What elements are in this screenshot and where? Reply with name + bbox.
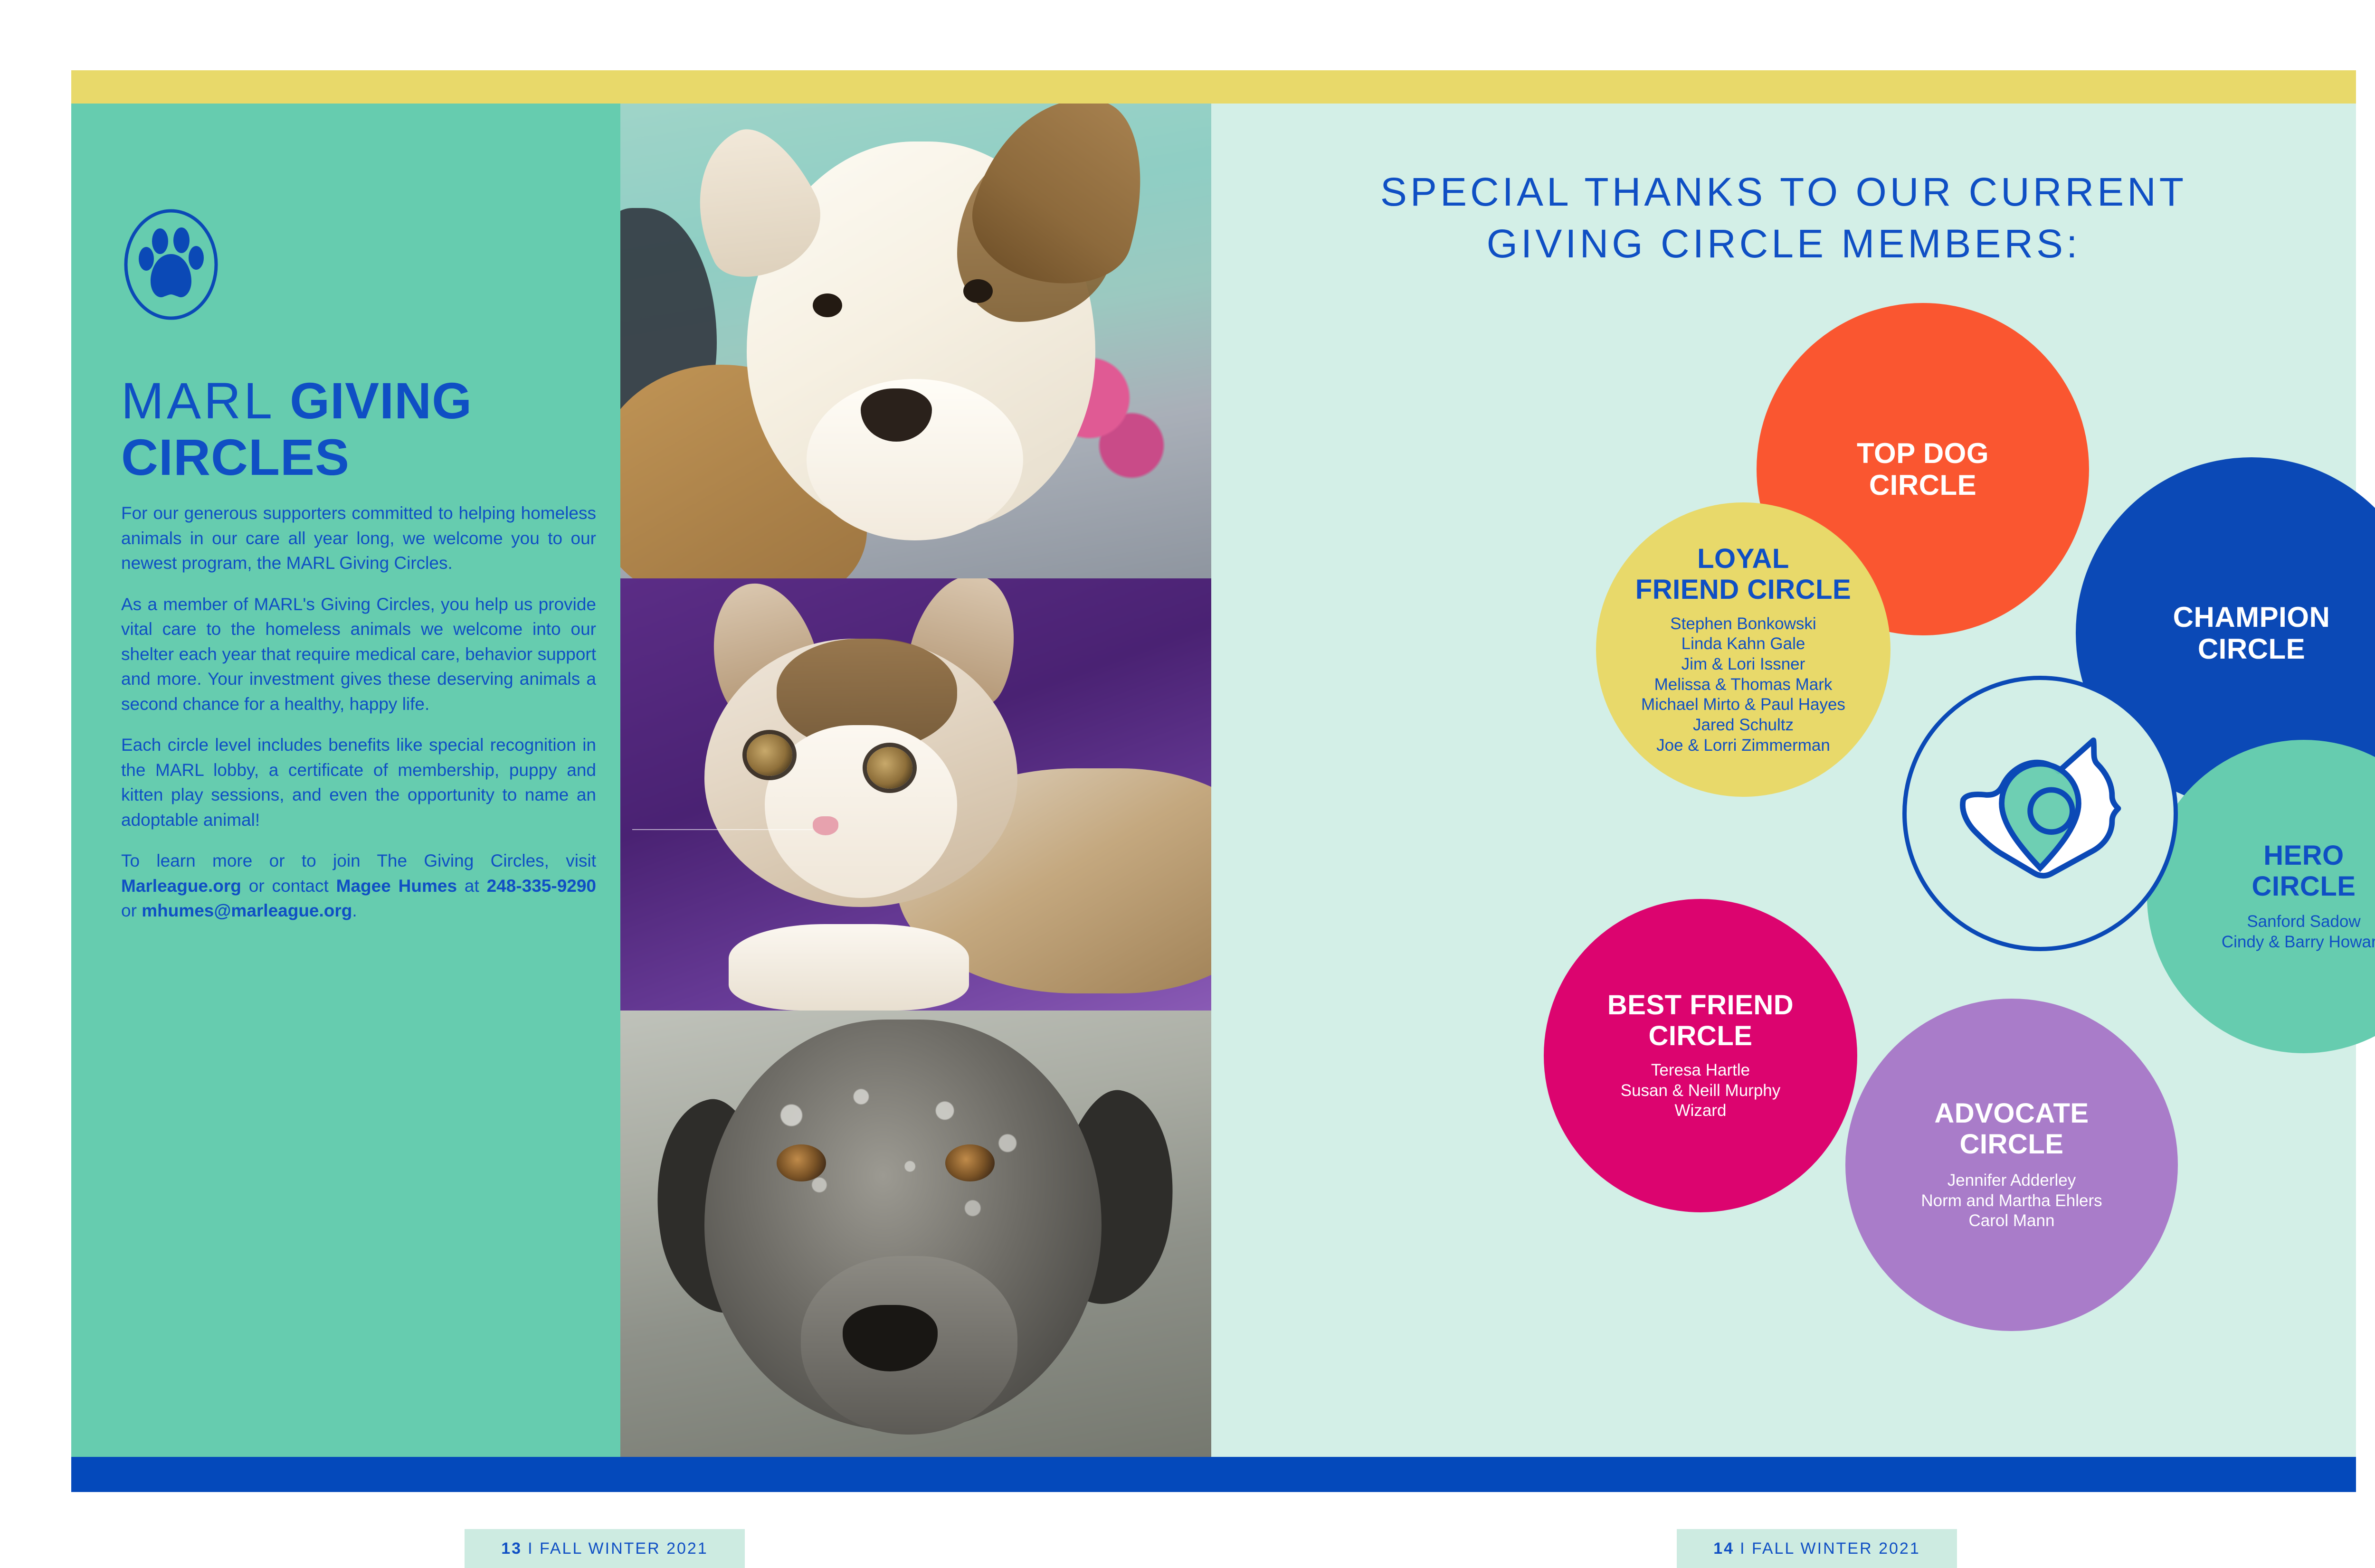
- member-name: Jared Schultz: [1641, 715, 1845, 736]
- member-name: Wizard: [1621, 1101, 1781, 1121]
- footer-page-number-right: 14: [1713, 1540, 1734, 1558]
- intro-paragraph-1: For our generous supporters committed to…: [121, 501, 596, 576]
- circle-advocate-title-line1: ADVOCATE: [1934, 1098, 2089, 1129]
- circle-best-friend[interactable]: BEST FRIEND CIRCLE Teresa Hartle Susan &…: [1544, 899, 1857, 1212]
- marl-logo-circle: [1902, 676, 2178, 951]
- circle-hero-members: Sanford Sadow Cindy & Barry Howard: [2222, 912, 2375, 952]
- contact-person-name: Magee Humes: [336, 876, 457, 896]
- member-name: Jim & Lori Issner: [1641, 654, 1845, 675]
- contact-end: .: [352, 901, 357, 920]
- footer-issue-label-right: I FALL WINTER 2021: [1740, 1540, 1920, 1558]
- circle-champion-title-line2: CIRCLE: [2198, 633, 2305, 665]
- circle-top-dog-title-line1: TOP DOG: [1857, 437, 1989, 469]
- page-title-bold-2: CIRCLES: [121, 428, 350, 486]
- page-title: MARL GIVING CIRCLES: [121, 373, 596, 486]
- circle-loyal-friend-members: Stephen Bonkowski Linda Kahn Gale Jim & …: [1641, 614, 1845, 756]
- contact-mid-2: at: [457, 876, 487, 896]
- circle-best-friend-title-line1: BEST FRIEND: [1607, 990, 1794, 1020]
- bottom-accent-bar: [71, 1457, 2356, 1492]
- intro-body-copy: For our generous supporters committed to…: [121, 501, 596, 924]
- photo-senior-dog: [620, 1011, 1222, 1457]
- member-name: Stephen Bonkowski: [1641, 614, 1845, 634]
- intro-paragraph-2: As a member of MARL's Giving Circles, yo…: [121, 592, 596, 717]
- circle-advocate-title-line2: CIRCLE: [1960, 1129, 2064, 1160]
- phone-link[interactable]: 248-335-9290: [487, 876, 596, 896]
- member-name: Joe & Lorri Zimmerman: [1641, 736, 1845, 756]
- member-name: Melissa & Thomas Mark: [1641, 675, 1845, 695]
- photo-puppy: [620, 104, 1222, 578]
- circle-best-friend-title-line2: CIRCLE: [1649, 1020, 1753, 1051]
- member-name: Susan & Neill Murphy: [1621, 1081, 1781, 1101]
- circle-loyal-friend-title-line2: FRIEND CIRCLE: [1635, 574, 1851, 605]
- circle-advocate-title: ADVOCATE CIRCLE: [1934, 1098, 2089, 1160]
- circle-champion-title-line1: CHAMPION: [2173, 601, 2330, 633]
- circle-hero-title-line2: CIRCLE: [2252, 871, 2356, 902]
- footer-issue-label-left: I FALL WINTER 2021: [528, 1540, 708, 1558]
- circle-best-friend-title: BEST FRIEND CIRCLE: [1607, 990, 1794, 1052]
- photo-kitten: [620, 578, 1222, 1011]
- member-name: Jennifer Adderley: [1921, 1171, 2102, 1191]
- paw-print-icon: [121, 209, 221, 321]
- circle-loyal-friend[interactable]: LOYAL FRIEND CIRCLE Stephen Bonkowski Li…: [1596, 502, 1890, 797]
- contact-mid-3: or: [121, 901, 142, 920]
- contact-lead: To learn more or to join The Giving Circ…: [121, 851, 596, 870]
- footer-page-left: 13 I FALL WINTER 2021: [465, 1529, 745, 1568]
- giving-circles-diagram: TOP DOG CIRCLE CHAMPION CIRCLE LOYAL FRI…: [1211, 104, 2356, 1457]
- member-name: Norm and Martha Ehlers: [1921, 1191, 2102, 1211]
- circle-loyal-friend-title-line1: LOYAL: [1697, 543, 1789, 574]
- member-name: Carol Mann: [1921, 1211, 2102, 1231]
- circle-hero-title-line1: HERO: [2263, 840, 2344, 871]
- footer-page-right: 14 I FALL WINTER 2021: [1677, 1529, 1957, 1568]
- circle-champion-title: CHAMPION CIRCLE: [2173, 601, 2330, 665]
- member-name: Sanford Sadow: [2222, 912, 2375, 932]
- magazine-spread: MARL GIVING CIRCLES For our generous sup…: [0, 0, 2375, 1567]
- footer-page-number-left: 13: [501, 1540, 522, 1558]
- contact-mid-1: or contact: [241, 876, 336, 896]
- circle-loyal-friend-title: LOYAL FRIEND CIRCLE: [1635, 544, 1851, 605]
- member-name: Michael Mirto & Paul Hayes: [1641, 695, 1845, 715]
- member-name: Linda Kahn Gale: [1641, 634, 1845, 654]
- page-title-bold-1: GIVING: [290, 372, 472, 429]
- circle-hero-title: HERO CIRCLE: [2252, 841, 2356, 902]
- page-title-thin: MARL: [121, 372, 275, 429]
- contact-paragraph: To learn more or to join The Giving Circ…: [121, 849, 596, 924]
- circle-advocate[interactable]: ADVOCATE CIRCLE Jennifer Adderley Norm a…: [1845, 999, 2178, 1331]
- circle-best-friend-members: Teresa Hartle Susan & Neill Murphy Wizar…: [1621, 1060, 1781, 1121]
- circle-advocate-members: Jennifer Adderley Norm and Martha Ehlers…: [1921, 1171, 2102, 1231]
- photo-column: [620, 104, 1222, 1457]
- marl-dog-cat-heart-logo: [1928, 702, 2152, 925]
- intro-paragraph-3: Each circle level includes benefits like…: [121, 733, 596, 832]
- email-link[interactable]: mhumes@marleague.org: [142, 901, 352, 920]
- top-accent-bar: [71, 70, 2356, 104]
- circle-top-dog-title-line2: CIRCLE: [1869, 469, 1976, 501]
- member-name: Cindy & Barry Howard: [2222, 932, 2375, 953]
- member-name: Teresa Hartle: [1621, 1060, 1781, 1081]
- circle-top-dog-title: TOP DOG CIRCLE: [1857, 437, 1989, 501]
- website-link[interactable]: Marleague.org: [121, 876, 241, 896]
